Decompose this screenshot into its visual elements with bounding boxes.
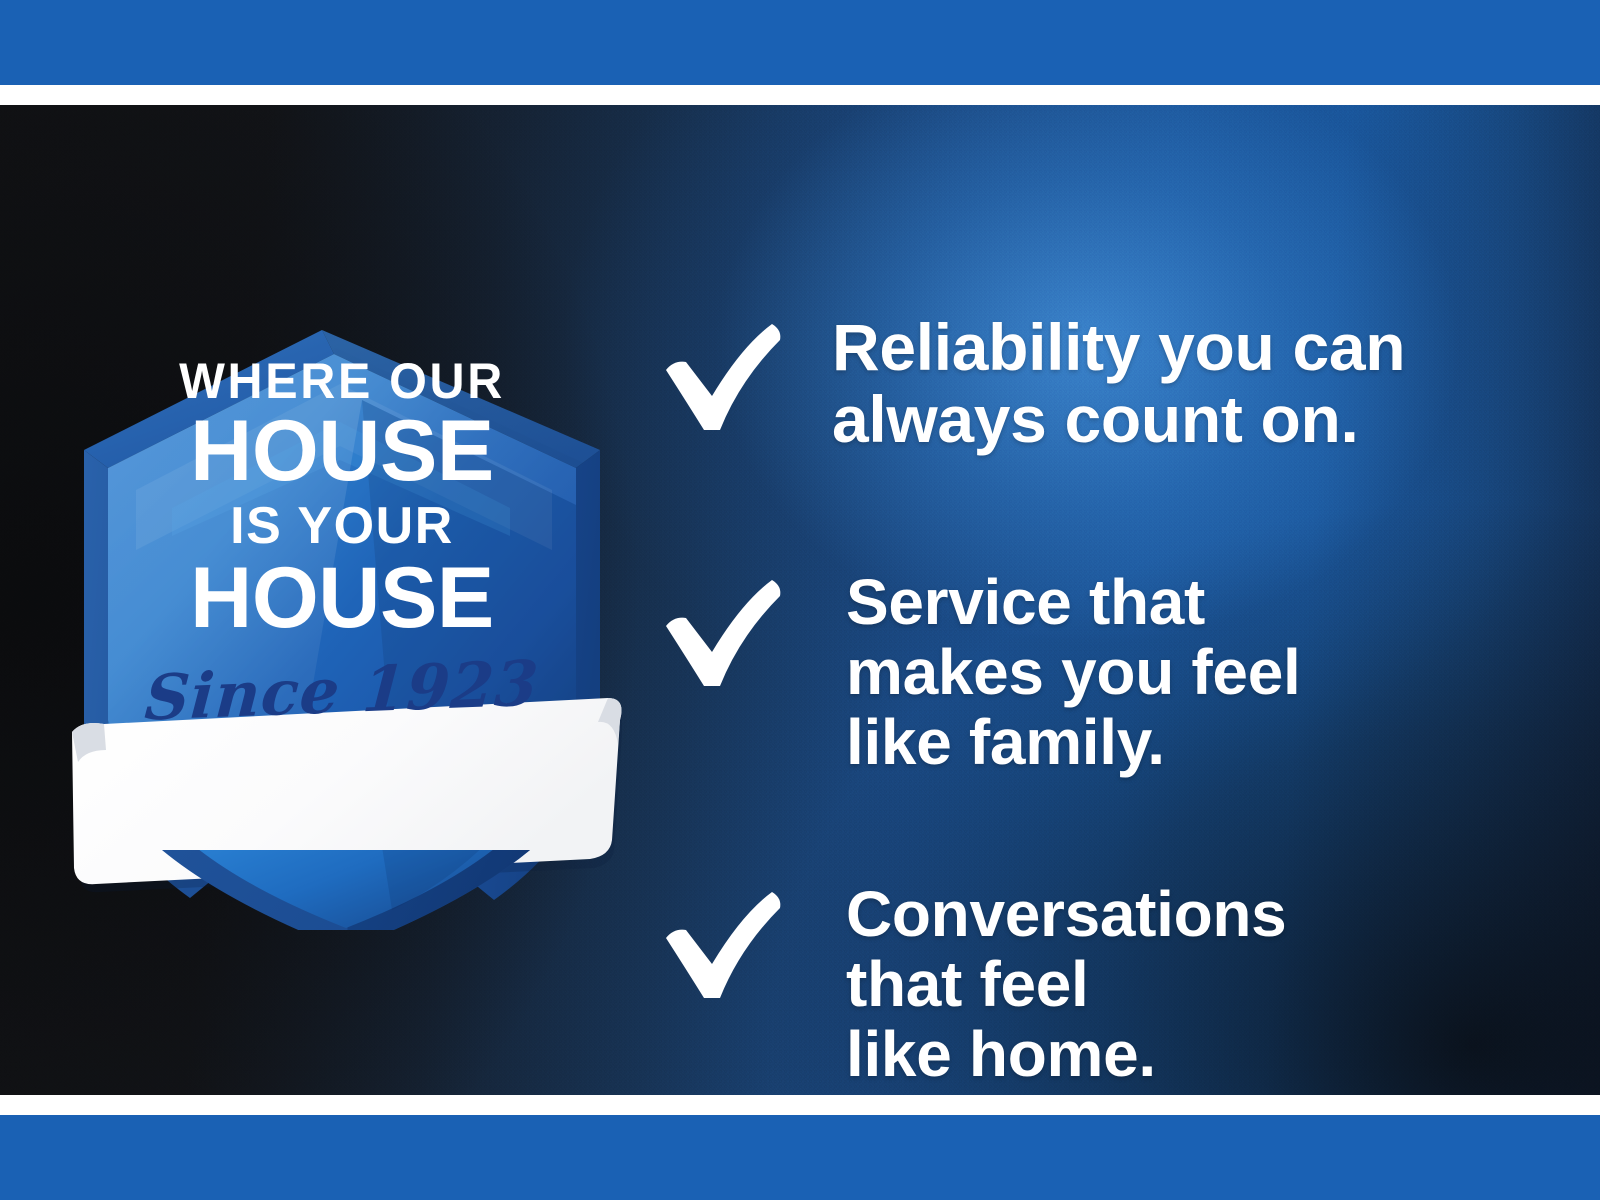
main-stage: WHERE OUR HOUSE IS YOUR HOUSE Since 1923…	[0, 105, 1600, 1095]
benefit-item-2: Service that makes you feel like family.	[660, 568, 1540, 777]
benefit-text-1: Reliability you can always count on.	[832, 312, 1405, 456]
checkmark-icon	[660, 568, 810, 692]
benefit-1-line-1: Reliability you can	[832, 312, 1405, 384]
benefit-3-line-3: like home.	[846, 1020, 1286, 1090]
benefit-2-line-3: like family.	[846, 708, 1300, 778]
benefit-text-2: Service that makes you feel like family.	[846, 568, 1300, 777]
benefit-1-line-2: always count on.	[832, 384, 1405, 456]
checkmark-icon	[660, 312, 810, 436]
benefit-3-line-1: Conversations	[846, 880, 1286, 950]
benefit-3-line-2: that feel	[846, 950, 1286, 1020]
benefit-item-1: Reliability you can always count on.	[660, 312, 1540, 456]
top-brand-bar	[0, 0, 1600, 85]
bottom-brand-bar	[0, 1115, 1600, 1200]
checkmark-icon	[660, 880, 810, 1004]
benefit-2-line-1: Service that	[846, 568, 1300, 638]
benefits-list: Reliability you can always count on. Ser…	[660, 210, 1540, 1095]
top-white-divider	[0, 85, 1600, 105]
benefit-item-3: Conversations that feel like home.	[660, 880, 1540, 1089]
promo-poster: WHERE OUR HOUSE IS YOUR HOUSE Since 1923…	[0, 0, 1600, 1200]
bottom-white-divider	[0, 1095, 1600, 1115]
benefit-2-line-2: makes you feel	[846, 638, 1300, 708]
benefit-text-3: Conversations that feel like home.	[846, 880, 1286, 1089]
shield-emblem: WHERE OUR HOUSE IS YOUR HOUSE Since 1923	[62, 250, 622, 930]
